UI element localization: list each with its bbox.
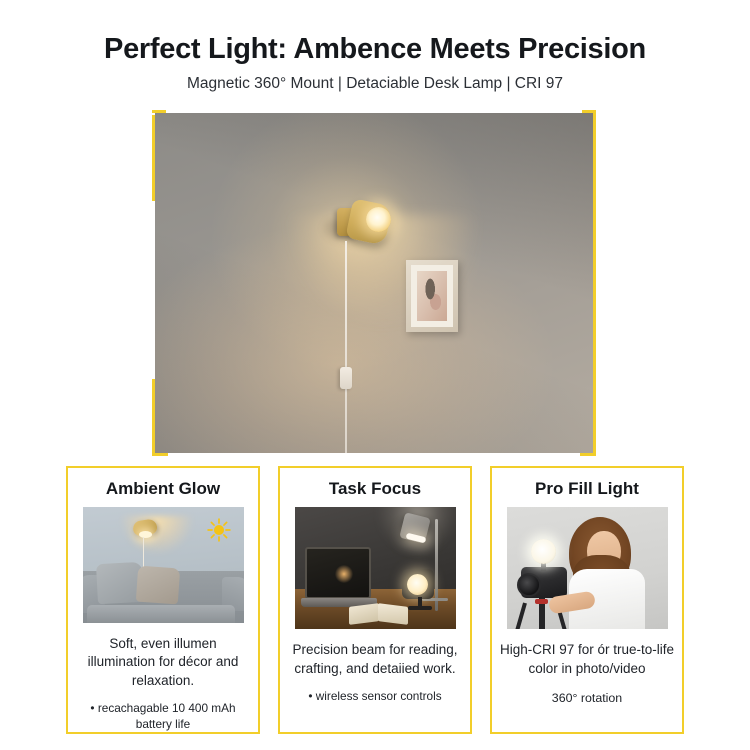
hero-frame-mat — [411, 265, 453, 327]
feature-card-pro-fill-light[interactable]: Pro Fill Light High-CRI 97 for ór true-t… — [490, 466, 684, 734]
card1-sofa-seat — [87, 605, 235, 623]
card3-tripod-head — [535, 599, 548, 604]
hero-cord-switch — [340, 367, 352, 389]
hero-border-left-bottom — [152, 379, 155, 453]
hero-border-bottom-left — [152, 453, 168, 456]
card-title: Pro Fill Light — [535, 479, 639, 499]
header: Perfect Light: Ambence Meets Precision M… — [0, 32, 750, 94]
card-description: Precision beam for reading, crafting, an… — [288, 641, 463, 678]
card2-book-right-page — [378, 603, 408, 625]
card3-camera-lens — [517, 573, 541, 597]
card-description: High-CRI 97 for ór true-to-life color in… — [500, 641, 675, 678]
hero-power-cord — [345, 241, 347, 453]
card2-laptop-reflection — [335, 565, 353, 583]
card-image-ambient-glow — [83, 507, 244, 623]
hero-photo — [155, 113, 593, 453]
hero-border-bottom-right — [580, 453, 596, 456]
card2-round-lamp-base — [408, 606, 432, 610]
card2-book-left-page — [349, 603, 379, 625]
card-bullet: 360° rotation — [497, 691, 677, 707]
card-bullet: • recachagable 10 400 mAh battery life — [73, 701, 253, 732]
hero-border-right — [593, 112, 596, 454]
hero-framed-art — [406, 260, 458, 332]
card-bullet: • wireless sensor controls — [285, 689, 465, 705]
card-image-pro-fill-light — [507, 507, 668, 629]
sun-icon — [206, 517, 232, 543]
card-title: Ambient Glow — [106, 479, 220, 499]
card-image-task-focus — [295, 507, 456, 629]
product-infographic-page: Perfect Light: Ambence Meets Precision M… — [0, 0, 750, 750]
feature-card-ambient-glow[interactable]: Ambient Glow — [66, 466, 260, 734]
card3-fill-light — [531, 539, 556, 564]
hero-border-top-right — [582, 110, 596, 113]
card2-round-lamp-light — [407, 574, 428, 595]
card1-lamp-light-face — [139, 531, 152, 538]
card-title: Task Focus — [329, 479, 421, 499]
feature-cards: Ambient Glow — [66, 466, 684, 734]
hero-border-left-top — [152, 115, 155, 201]
card1-cushion-right — [135, 565, 179, 604]
hero-lamp-light-face — [366, 207, 391, 232]
hero-image — [155, 113, 593, 453]
feature-card-task-focus[interactable]: Task Focus Precision beam for readin — [278, 466, 472, 734]
page-title: Perfect Light: Ambence Meets Precision — [0, 32, 750, 66]
hero-light-cone — [260, 215, 505, 453]
hero-border-top-left — [152, 110, 166, 113]
page-subtitle: Magnetic 360° Mount | Detaciable Desk La… — [0, 74, 750, 94]
hero-frame-artwork — [417, 271, 447, 321]
card-description: Soft, even illumen illumination for déco… — [76, 635, 251, 691]
